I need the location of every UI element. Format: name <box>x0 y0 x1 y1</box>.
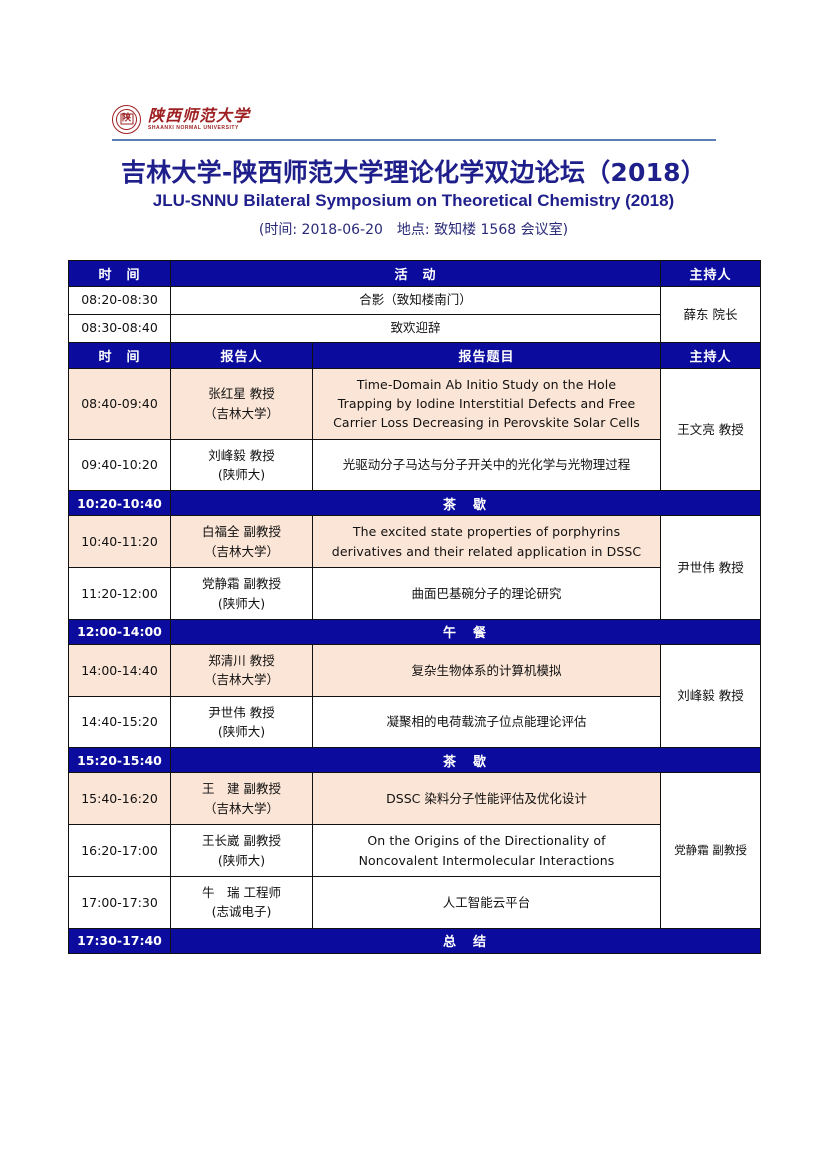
break-time: 12:00-14:00 <box>69 619 171 644</box>
topic-block: On the Origins of the Directionality of … <box>313 825 660 876</box>
topic-block: 人工智能云平台 <box>313 887 660 918</box>
topic-line: 光驱动分子马达与分子开关中的光化学与光物理过程 <box>318 455 655 474</box>
cell-speaker: 张红星 教授 （吉林大学） <box>171 368 313 439</box>
speaker-affiliation: （吉林大学） <box>176 670 307 689</box>
cell-speaker: 王 建 副教授 （吉林大学） <box>171 773 313 825</box>
page-title-cn: 吉林大学-陕西师范大学理论化学双边论坛（2018） <box>0 153 827 189</box>
topic-line: On the Origins of the Directionality of <box>318 831 655 850</box>
table-row: 08:20-08:30 合影（致知楼南门） 薛东 院长 <box>69 287 761 315</box>
col-header-topic: 报告题目 <box>313 342 661 368</box>
university-seal-icon: 陕 <box>112 105 141 134</box>
speaker-block: 张红星 教授 （吉林大学） <box>171 378 312 429</box>
topic-line: 凝聚相的电荷载流子位点能理论评估 <box>318 712 655 731</box>
seal-glyph: 陕 <box>120 114 133 125</box>
topic-block: 凝聚相的电荷载流子位点能理论评估 <box>313 706 660 737</box>
speaker-affiliation: （吉林大学） <box>176 404 307 423</box>
table-row-break: 10:20-10:40 茶 歇 <box>69 491 761 516</box>
cell-time: 14:00-14:40 <box>69 644 171 696</box>
col-header-host: 主持人 <box>661 342 761 368</box>
table-row: 16:20-17:00 王长崴 副教授 (陕师大) On the Origins… <box>69 825 761 877</box>
table-row-break: 12:00-14:00 午 餐 <box>69 619 761 644</box>
speaker-affiliation: （吉林大学） <box>176 542 307 561</box>
cell-time: 08:20-08:30 <box>69 287 171 315</box>
topic-line: DSSC 染料分子性能评估及优化设计 <box>318 789 655 808</box>
cell-topic: 人工智能云平台 <box>313 876 661 928</box>
speaker-name: 王长崴 副教授 <box>176 831 307 850</box>
table-row: 10:40-11:20 白福全 副教授 （吉林大学） The excited s… <box>69 516 761 568</box>
topic-block: DSSC 染料分子性能评估及优化设计 <box>313 783 660 814</box>
speaker-block: 刘峰毅 教授 (陕师大) <box>171 440 312 491</box>
cell-time: 08:30-08:40 <box>69 314 171 342</box>
table-row: 09:40-10:20 刘峰毅 教授 (陕师大) 光驱动分子马达与分子开关中的光… <box>69 439 761 491</box>
cell-speaker: 郑清川 教授 （吉林大学） <box>171 644 313 696</box>
topic-line: 曲面巴基碗分子的理论研究 <box>318 584 655 603</box>
cell-topic: 凝聚相的电荷载流子位点能理论评估 <box>313 696 661 748</box>
cell-time: 14:40-15:20 <box>69 696 171 748</box>
host-text: 党静霜 副教授 <box>661 836 760 866</box>
time-text: 08:40-09:40 <box>69 388 170 419</box>
table-row: 08:30-08:40 致欢迎辞 <box>69 314 761 342</box>
table-row: 11:20-12:00 党静霜 副教授 (陕师大) 曲面巴基碗分子的理论研究 <box>69 568 761 620</box>
host-text: 王文亮 教授 <box>661 414 760 445</box>
table-row: 15:40-16:20 王 建 副教授 （吉林大学） DSSC 染料分子性能评估… <box>69 773 761 825</box>
cell-speaker: 刘峰毅 教授 (陕师大) <box>171 439 313 491</box>
cell-host: 刘峰毅 教授 <box>661 644 761 748</box>
topic-line: 复杂生物体系的计算机模拟 <box>318 661 655 680</box>
speaker-affiliation: (陕师大) <box>176 465 307 484</box>
time-text: 08:30-08:40 <box>69 315 170 342</box>
cell-topic: The excited state properties of porphyri… <box>313 516 661 568</box>
speaker-affiliation: (陕师大) <box>176 594 307 613</box>
cell-topic: 光驱动分子马达与分子开关中的光化学与光物理过程 <box>313 439 661 491</box>
closing-label: 总 结 <box>171 928 761 953</box>
letterhead: 陕 陕西师范大学 SHAANXI NORMAL UNIVERSITY <box>112 98 716 140</box>
cell-host: 尹世伟 教授 <box>661 516 761 620</box>
topic-line: Trapping by Iodine Interstitial Defects … <box>318 394 655 413</box>
cell-activity: 致欢迎辞 <box>171 314 661 342</box>
break-label: 茶 歇 <box>171 748 761 773</box>
speaker-block: 郑清川 教授 （吉林大学） <box>171 645 312 696</box>
page-subtitle-datetime-venue: (时间: 2018-06-20 地点: 致知楼 1568 会议室) <box>0 219 827 239</box>
time-text: 14:00-14:40 <box>69 655 170 686</box>
cell-host: 王文亮 教授 <box>661 368 761 491</box>
host-text: 尹世伟 教授 <box>661 552 760 583</box>
cell-speaker: 尹世伟 教授 (陕师大) <box>171 696 313 748</box>
break-time: 15:20-15:40 <box>69 748 171 773</box>
table-row-break: 17:30-17:40 总 结 <box>69 928 761 953</box>
topic-line: The excited state properties of porphyri… <box>318 522 655 541</box>
cell-speaker: 牛 瑞 工程师 (志诚电子) <box>171 876 313 928</box>
speaker-block: 王 建 副教授 （吉林大学） <box>171 773 312 824</box>
schedule-table: 时 间 活 动 主持人 08:20-08:30 合影（致知楼南门） 薛东 院长 … <box>68 260 761 954</box>
time-text: 11:20-12:00 <box>69 578 170 609</box>
cell-time: 17:00-17:30 <box>69 876 171 928</box>
speaker-affiliation: （吉林大学） <box>176 799 307 818</box>
university-name-cn: 陕西师范大学 <box>148 108 250 124</box>
activity-text: 致欢迎辞 <box>171 315 660 342</box>
cell-host: 薛东 院长 <box>661 287 761 343</box>
cell-speaker: 白福全 副教授 （吉林大学） <box>171 516 313 568</box>
speaker-block: 党静霜 副教授 (陕师大) <box>171 568 312 619</box>
break-label: 茶 歇 <box>171 491 761 516</box>
cell-time: 08:40-09:40 <box>69 368 171 439</box>
topic-block: Time-Domain Ab Initio Study on the Hole … <box>313 369 660 439</box>
table-row: 14:40-15:20 尹世伟 教授 (陕师大) 凝聚相的电荷载流子位点能理论评… <box>69 696 761 748</box>
topic-line: Carrier Loss Decreasing in Perovskite So… <box>318 413 655 432</box>
col-header-time: 时 间 <box>69 261 171 287</box>
cell-time: 10:40-11:20 <box>69 516 171 568</box>
cell-topic: 曲面巴基碗分子的理论研究 <box>313 568 661 620</box>
cell-time: 16:20-17:00 <box>69 825 171 877</box>
time-text: 09:40-10:20 <box>69 449 170 480</box>
time-text: 16:20-17:00 <box>69 835 170 866</box>
header-divider <box>112 139 716 141</box>
time-text: 10:40-11:20 <box>69 526 170 557</box>
host-text: 刘峰毅 教授 <box>661 680 760 711</box>
break-label: 午 餐 <box>171 619 761 644</box>
cell-time: 15:40-16:20 <box>69 773 171 825</box>
table-header-row-activity: 时 间 活 动 主持人 <box>69 261 761 287</box>
speaker-name: 王 建 副教授 <box>176 779 307 798</box>
topic-block: The excited state properties of porphyri… <box>313 516 660 567</box>
cell-activity: 合影（致知楼南门） <box>171 287 661 315</box>
cell-speaker: 王长崴 副教授 (陕师大) <box>171 825 313 877</box>
speaker-block: 王长崴 副教授 (陕师大) <box>171 825 312 876</box>
letterhead-text: 陕西师范大学 SHAANXI NORMAL UNIVERSITY <box>148 108 250 131</box>
cell-topic: DSSC 染料分子性能评估及优化设计 <box>313 773 661 825</box>
time-text: 17:00-17:30 <box>69 887 170 918</box>
time-text: 14:40-15:20 <box>69 706 170 737</box>
speaker-name: 郑清川 教授 <box>176 651 307 670</box>
speaker-affiliation: (陕师大) <box>176 722 307 741</box>
closing-time: 17:30-17:40 <box>69 928 171 953</box>
break-time: 10:20-10:40 <box>69 491 171 516</box>
speaker-block: 白福全 副教授 （吉林大学） <box>171 516 312 567</box>
cell-topic: On the Origins of the Directionality of … <box>313 825 661 877</box>
symposium-schedule-page: 陕 陕西师范大学 SHAANXI NORMAL UNIVERSITY 吉林大学-… <box>0 0 827 1169</box>
topic-block: 曲面巴基碗分子的理论研究 <box>313 578 660 609</box>
topic-line: 人工智能云平台 <box>318 893 655 912</box>
col-header-host: 主持人 <box>661 261 761 287</box>
speaker-name: 尹世伟 教授 <box>176 703 307 722</box>
time-text: 08:20-08:30 <box>69 287 170 314</box>
table-header-row-talks: 时 间 报告人 报告题目 主持人 <box>69 342 761 368</box>
speaker-affiliation: (志诚电子) <box>176 902 307 921</box>
cell-topic: Time-Domain Ab Initio Study on the Hole … <box>313 368 661 439</box>
table-row: 14:00-14:40 郑清川 教授 （吉林大学） 复杂生物体系的计算机模拟 刘… <box>69 644 761 696</box>
topic-line: derivatives and their related applicatio… <box>318 542 655 561</box>
cell-topic: 复杂生物体系的计算机模拟 <box>313 644 661 696</box>
cell-speaker: 党静霜 副教授 (陕师大) <box>171 568 313 620</box>
topic-line: Time-Domain Ab Initio Study on the Hole <box>318 375 655 394</box>
page-title-en: JLU-SNNU Bilateral Symposium on Theoreti… <box>0 191 827 211</box>
topic-block: 复杂生物体系的计算机模拟 <box>313 655 660 686</box>
cell-time: 11:20-12:00 <box>69 568 171 620</box>
cell-host: 党静霜 副教授 <box>661 773 761 928</box>
speaker-block: 牛 瑞 工程师 (志诚电子) <box>171 877 312 928</box>
table-row: 17:00-17:30 牛 瑞 工程师 (志诚电子) 人工智能云平台 <box>69 876 761 928</box>
col-header-speaker: 报告人 <box>171 342 313 368</box>
col-header-activity: 活 动 <box>171 261 661 287</box>
speaker-affiliation: (陕师大) <box>176 851 307 870</box>
speaker-name: 党静霜 副教授 <box>176 574 307 593</box>
table-row-break: 15:20-15:40 茶 歇 <box>69 748 761 773</box>
table-row: 08:40-09:40 张红星 教授 （吉林大学） Time-Domain Ab… <box>69 368 761 439</box>
time-text: 15:40-16:20 <box>69 783 170 814</box>
host-text: 薛东 院长 <box>661 299 760 330</box>
speaker-name: 白福全 副教授 <box>176 522 307 541</box>
speaker-name: 刘峰毅 教授 <box>176 446 307 465</box>
activity-text: 合影（致知楼南门） <box>171 287 660 314</box>
speaker-block: 尹世伟 教授 (陕师大) <box>171 697 312 748</box>
cell-time: 09:40-10:20 <box>69 439 171 491</box>
topic-block: 光驱动分子马达与分子开关中的光化学与光物理过程 <box>313 449 660 480</box>
topic-line: Noncovalent Intermolecular Interactions <box>318 851 655 870</box>
speaker-name: 牛 瑞 工程师 <box>176 883 307 902</box>
speaker-name: 张红星 教授 <box>176 384 307 403</box>
col-header-time: 时 间 <box>69 342 171 368</box>
university-name-en: SHAANXI NORMAL UNIVERSITY <box>148 126 250 131</box>
